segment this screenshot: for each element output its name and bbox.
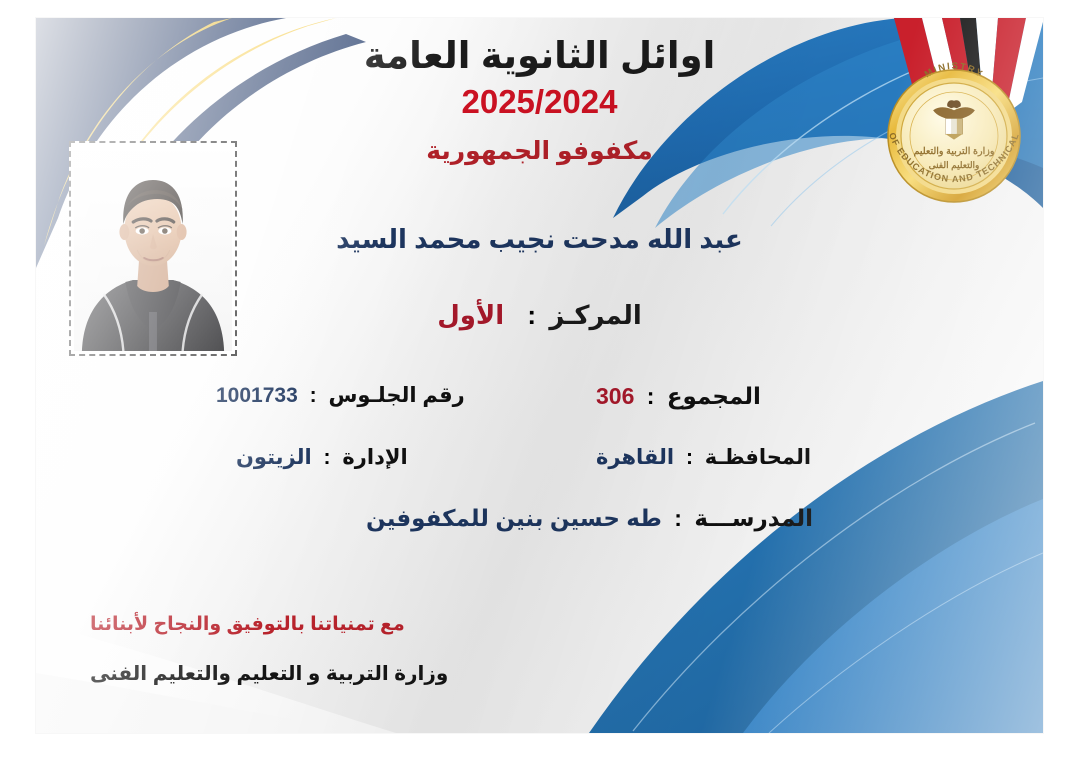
certificate-card: وزارة التربية والتعليم والتعليم الفنى MI… [36,18,1043,733]
footer-wish-text: مع تمنياتنا بالتوفيق والنجاح لأبنائنا [90,613,405,636]
seat-number-separator: : [304,384,323,408]
rank-separator: : [521,300,542,331]
academic-year: 2025/2024 [36,83,1043,121]
school-label: المدرســـة [694,505,813,531]
total-label: المجموع [667,383,761,409]
governorate-separator: : [680,446,699,470]
governorate-value: القاهرة [596,446,674,469]
administration-value: الزيتون [236,446,312,469]
certificate-page: وزارة التربية والتعليم والتعليم الفنى MI… [0,0,1080,764]
total-separator: : [641,383,661,410]
seat-number-row: رقم الجلـوس : 1001733 [216,383,546,408]
administration-separator: : [318,446,337,470]
seat-number-label: رقم الجلـوس [328,384,464,407]
page-title: اوائل الثانوية العامة [36,34,1043,77]
governorate-row: المحافظـة : القاهرة [596,445,896,470]
student-name: عبد الله مدحت نجيب محمد السيد [36,224,1043,255]
rank-value: الأول [437,300,504,330]
governorate-label: المحافظـة [705,446,811,469]
seat-number-value: 1001733 [216,384,298,407]
rank-label: المركـز [549,300,641,330]
category-subtitle: مكفوفو الجمهورية [36,136,1043,166]
administration-label: الإدارة [342,446,407,469]
school-value: طه حسين بنين للمكفوفين [366,505,662,531]
total-value: 306 [596,383,634,409]
footer-ministry-name: وزارة التربية و التعليم والتعليم الفنى [90,661,448,686]
school-row: المدرســـة : طه حسين بنين للمكفوفين [366,505,896,532]
school-separator: : [668,505,688,532]
rank-row: المركـز : الأول [36,300,1043,331]
total-row: المجموع : 306 [596,383,896,410]
administration-row: الإدارة : الزيتون [236,445,566,470]
